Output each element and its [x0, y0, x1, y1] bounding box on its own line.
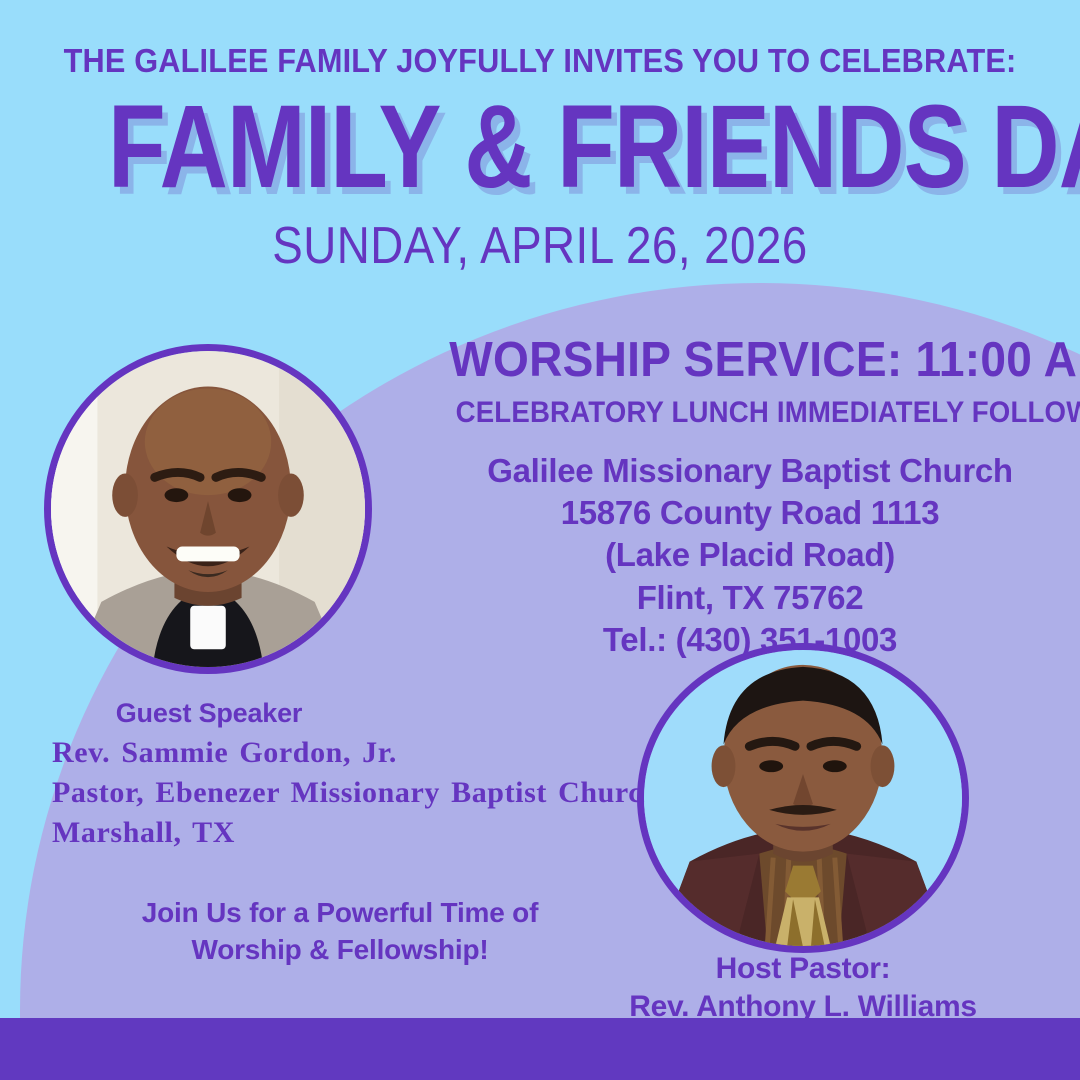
worship-service-time: WORSHIP SERVICE: 11:00 AM [449, 332, 1051, 388]
host-pastor-details: Host Pastor: Rev. Anthony L. Williams [620, 950, 986, 1027]
guest-speaker-position: Pastor, Ebenezer Missionary Baptist Chur… [52, 773, 672, 813]
venue-city-state-zip: Flint, TX 75762 [430, 577, 1070, 619]
service-info-block: WORSHIP SERVICE: 11:00 AM CELEBRATORY LU… [430, 332, 1070, 661]
guest-speaker-avatar [44, 344, 372, 674]
guest-speaker-photo [51, 351, 365, 667]
venue-street-alt: (Lake Placid Road) [430, 534, 1070, 576]
venue-street: 15876 County Road 1113 [430, 492, 1070, 534]
cta-line-1: Join Us for a Powerful Time of [60, 895, 620, 932]
event-date: SUNDAY, APRIL 26, 2026 [65, 206, 1015, 276]
flyer-canvas: THE GALILEE FAMILY JOYFULLY INVITES YOU … [0, 0, 1080, 1080]
guest-speaker-role: Guest Speaker [44, 698, 374, 729]
lunch-note: CELEBRATORY LUNCH IMMEDIATELY FOLLOWING [456, 388, 1045, 430]
call-to-action: Join Us for a Powerful Time of Worship &… [60, 895, 620, 969]
header-block: THE GALILEE FAMILY JOYFULLY INVITES YOU … [0, 0, 1080, 276]
host-pastor-role-label: Host Pastor: [620, 950, 986, 988]
venue-name: Galilee Missionary Baptist Church [430, 450, 1070, 492]
venue-address: Galilee Missionary Baptist Church 15876 … [430, 430, 1070, 661]
footer-bar [0, 1018, 1080, 1080]
guest-speaker-location: Marshall, TX [52, 813, 672, 853]
guest-speaker-details: Rev. Sammie Gordon, Jr. Pastor, Ebenezer… [52, 733, 672, 853]
page-title: FAMILY & FRIENDS DAY [108, 80, 972, 206]
host-pastor-photo [644, 650, 962, 946]
guest-speaker-role-label: Guest Speaker [44, 698, 374, 729]
invitation-kicker: THE GALILEE FAMILY JOYFULLY INVITES YOU … [38, 0, 1042, 80]
cta-line-2: Worship & Fellowship! [60, 932, 620, 969]
host-pastor-avatar [637, 643, 969, 953]
guest-speaker-name: Rev. Sammie Gordon, Jr. [52, 733, 672, 773]
